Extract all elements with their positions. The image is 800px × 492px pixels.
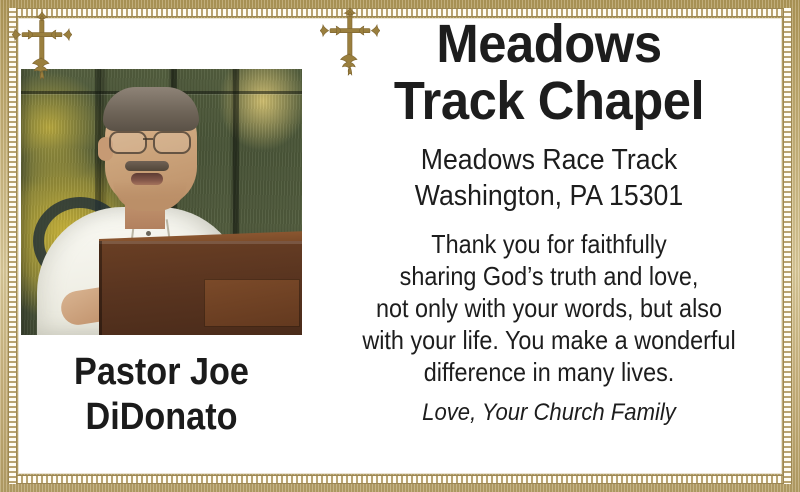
- message-line-1: Thank you for faithfully: [343, 228, 755, 260]
- decorative-cross-right-icon: [320, 4, 380, 78]
- message-signoff: Love, Your Church Family: [338, 398, 759, 428]
- collar-button: [146, 231, 151, 236]
- glasses-bridge: [143, 138, 153, 140]
- message-line-4: with your life. You make a wonderful: [343, 324, 755, 356]
- chapel-title-line2: Track Chapel: [334, 73, 765, 130]
- pastor-name-line2: DiDonato: [35, 394, 288, 440]
- pastor-photo: [21, 69, 302, 335]
- chapel-address: Meadows Race Track Washington, PA 15301: [338, 142, 759, 214]
- pastor-glasses: [109, 131, 195, 151]
- pastor-mustache: [125, 161, 169, 171]
- photo-frame: [21, 69, 302, 335]
- pastor-hair: [103, 87, 199, 131]
- podium-left-edge: [99, 241, 102, 335]
- message-line-2: sharing God’s truth and love,: [343, 260, 755, 292]
- chapel-info-column: Meadows Track Chapel Meadows Race Track …: [320, 16, 778, 428]
- pastor-name-line1: Pastor Joe: [35, 350, 288, 394]
- wooden-podium: [99, 241, 302, 335]
- address-line1: Meadows Race Track: [338, 142, 759, 178]
- ad-content: Pastor Joe DiDonato Meadows Track Chapel…: [0, 0, 800, 492]
- message-line-5: difference in many lives.: [343, 356, 755, 388]
- chapel-title-line1: Meadows: [334, 16, 765, 73]
- thank-you-message: Thank you for faithfully sharing God’s t…: [343, 228, 755, 388]
- podium-front-panel: [204, 279, 300, 327]
- advertisement-card: Pastor Joe DiDonato Meadows Track Chapel…: [0, 0, 800, 492]
- glasses-lens-right: [153, 131, 191, 154]
- decorative-cross-left-icon: [12, 8, 72, 82]
- pastor-name: Pastor Joe DiDonato: [35, 350, 288, 440]
- glasses-lens-left: [109, 131, 147, 154]
- chapel-title: Meadows Track Chapel: [334, 16, 765, 130]
- message-line-3: not only with your words, but also: [343, 292, 755, 324]
- address-line2: Washington, PA 15301: [338, 178, 759, 214]
